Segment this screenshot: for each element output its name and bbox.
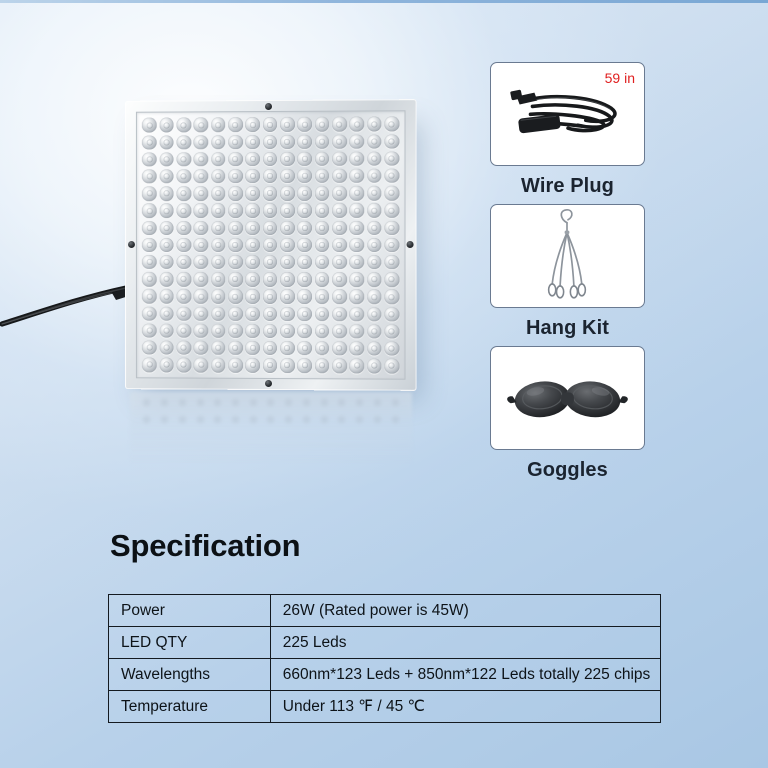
- led-diode: [227, 305, 244, 322]
- led-diode: [383, 288, 400, 305]
- led-diode: [261, 185, 278, 202]
- led-diode: [192, 202, 209, 219]
- led-reflection-dot: [212, 414, 223, 425]
- led-diode: [313, 340, 330, 357]
- led-reflection-dot: [195, 397, 206, 408]
- led-diode: [158, 168, 175, 185]
- led-diode: [244, 236, 261, 253]
- mounting-screw-right: [407, 241, 414, 248]
- led-diode: [175, 168, 192, 185]
- led-diode: [175, 288, 192, 305]
- led-diode: [313, 236, 330, 253]
- led-diode: [192, 322, 209, 339]
- led-reflection-dot: [230, 414, 241, 425]
- led-diode: [210, 254, 227, 271]
- led-reflection-dot: [177, 414, 188, 425]
- led-reflection-dot: [283, 397, 294, 408]
- led-diode: [313, 133, 330, 150]
- led-diode: [261, 271, 278, 288]
- led-diode: [296, 150, 313, 167]
- led-diode: [366, 357, 383, 374]
- led-diode: [279, 271, 296, 288]
- led-diode: [175, 322, 192, 339]
- accessory-image-box: [490, 346, 645, 450]
- led-diode: [158, 305, 175, 322]
- led-diode: [158, 288, 175, 305]
- led-diode: [244, 202, 261, 219]
- led-diode: [210, 305, 227, 322]
- led-diode: [175, 116, 192, 133]
- led-diode: [331, 219, 348, 236]
- led-reflection-dot: [372, 397, 383, 408]
- led-reflection-dot: [390, 414, 401, 425]
- led-diode: [175, 202, 192, 219]
- led-reflection-dot: [283, 414, 294, 425]
- led-diode: [279, 150, 296, 167]
- led-diode: [383, 305, 400, 322]
- led-diode: [244, 168, 261, 185]
- led-diode: [141, 322, 158, 339]
- panel-faceplate: [136, 110, 406, 379]
- led-diode: [141, 151, 158, 168]
- led-diode: [348, 202, 365, 219]
- led-diode: [210, 151, 227, 168]
- led-diode: [348, 150, 365, 167]
- led-diode: [227, 202, 244, 219]
- led-diode: [227, 322, 244, 339]
- led-diode: [313, 219, 330, 236]
- led-diode: [261, 340, 278, 357]
- led-diode: [366, 185, 383, 202]
- led-diode: [261, 219, 278, 236]
- led-reflection-dot: [372, 414, 383, 425]
- led-diode: [261, 236, 278, 253]
- led-diode: [366, 150, 383, 167]
- led-diode: [279, 357, 296, 374]
- led-diode: [366, 219, 383, 236]
- led-diode: [313, 323, 330, 340]
- led-diode: [227, 254, 244, 271]
- led-diode: [331, 271, 348, 288]
- mounting-screw-top: [265, 103, 272, 110]
- led-panel: [124, 100, 416, 390]
- led-diode: [261, 254, 278, 271]
- led-diode: [227, 116, 244, 133]
- accessory-goggles[interactable]: Goggles: [490, 346, 645, 482]
- table-row: TemperatureUnder 113 ℉ / 45 ℃: [109, 691, 661, 723]
- table-row: Wavelengths660nm*123 Leds + 850nm*122 Le…: [109, 659, 661, 691]
- led-diode: [175, 271, 192, 288]
- led-diode: [261, 305, 278, 322]
- led-diode: [366, 305, 383, 322]
- spec-key: Wavelengths: [109, 659, 271, 691]
- led-diode: [244, 305, 261, 322]
- led-diode: [158, 151, 175, 168]
- accessory-label: Goggles: [490, 459, 645, 482]
- panel-reflection-leds: [138, 394, 404, 428]
- led-diode: [175, 236, 192, 253]
- led-reflection-dot: [141, 414, 152, 425]
- led-diode: [244, 219, 261, 236]
- led-diode: [366, 340, 383, 357]
- led-diode: [158, 356, 175, 373]
- led-reflection-dot: [301, 397, 312, 408]
- led-diode: [279, 322, 296, 339]
- led-diode: [210, 322, 227, 339]
- led-diode: [210, 236, 227, 253]
- led-diode: [158, 271, 175, 288]
- led-diode: [313, 357, 330, 374]
- led-diode: [192, 356, 209, 373]
- led-reflection-dot: [212, 397, 223, 408]
- led-diode: [331, 202, 348, 219]
- led-diode: [383, 254, 400, 271]
- led-diode: [192, 151, 209, 168]
- led-diode: [261, 202, 278, 219]
- led-diode: [348, 305, 365, 322]
- led-diode: [366, 271, 383, 288]
- led-diode: [210, 133, 227, 150]
- led-diode: [296, 185, 313, 202]
- led-diode: [313, 167, 330, 184]
- led-reflection-dot: [248, 397, 259, 408]
- table-row: Power26W (Rated power is 45W): [109, 595, 661, 627]
- led-diode: [227, 133, 244, 150]
- led-diode: [158, 134, 175, 151]
- led-diode: [383, 115, 400, 132]
- led-diode: [348, 185, 365, 202]
- led-diode: [141, 168, 158, 185]
- specification-table-body: Power26W (Rated power is 45W)LED QTY225 …: [109, 595, 661, 723]
- led-diode: [227, 219, 244, 236]
- led-diode: [348, 323, 365, 340]
- goggles-icon: [491, 347, 644, 450]
- led-diode: [366, 288, 383, 305]
- spec-key: Temperature: [109, 691, 271, 723]
- led-diode: [175, 219, 192, 236]
- led-diode: [244, 271, 261, 288]
- led-diode: [261, 357, 278, 374]
- led-diode: [141, 339, 158, 356]
- led-diode: [296, 202, 313, 219]
- led-diode: [296, 288, 313, 305]
- led-reflection-dot: [336, 414, 347, 425]
- led-diode: [141, 271, 158, 288]
- led-diode: [158, 202, 175, 219]
- led-diode: [175, 134, 192, 151]
- led-diode: [261, 288, 278, 305]
- accessory-label: Wire Plug: [490, 175, 645, 198]
- led-reflection-dot: [265, 397, 276, 408]
- led-diode: [331, 357, 348, 374]
- led-diode: [192, 133, 209, 150]
- accessory-hang-kit[interactable]: Hang Kit: [490, 204, 645, 340]
- led-diode: [158, 322, 175, 339]
- panel-frame: [125, 99, 417, 391]
- led-diode: [313, 202, 330, 219]
- led-diode: [313, 305, 330, 322]
- led-diode: [141, 356, 158, 373]
- led-diode: [244, 133, 261, 150]
- led-diode: [175, 305, 192, 322]
- led-diode: [331, 236, 348, 253]
- led-diode: [158, 116, 175, 133]
- led-diode: [348, 254, 365, 271]
- led-diode: [192, 219, 209, 236]
- led-diode: [210, 271, 227, 288]
- led-diode: [348, 288, 365, 305]
- led-diode: [141, 288, 158, 305]
- led-grid: [140, 114, 402, 375]
- led-reflection-dot: [141, 397, 152, 408]
- led-diode: [383, 323, 400, 340]
- led-diode: [141, 134, 158, 151]
- led-diode: [383, 236, 400, 253]
- led-diode: [383, 271, 400, 288]
- led-diode: [158, 185, 175, 202]
- led-diode: [331, 185, 348, 202]
- led-diode: [296, 167, 313, 184]
- accessory-image-box: 59 in: [490, 62, 645, 166]
- led-diode: [227, 168, 244, 185]
- led-diode: [383, 340, 400, 357]
- led-diode: [348, 219, 365, 236]
- led-diode: [192, 168, 209, 185]
- led-diode: [279, 116, 296, 133]
- led-diode: [296, 271, 313, 288]
- led-diode: [227, 150, 244, 167]
- led-diode: [192, 116, 209, 133]
- accessory-image-box: [490, 204, 645, 308]
- led-diode: [244, 357, 261, 374]
- led-diode: [279, 185, 296, 202]
- led-diode: [279, 133, 296, 150]
- led-diode: [244, 339, 261, 356]
- led-diode: [331, 133, 348, 150]
- led-diode: [296, 219, 313, 236]
- led-diode: [210, 116, 227, 133]
- led-diode: [210, 202, 227, 219]
- led-diode: [331, 340, 348, 357]
- spec-value: Under 113 ℉ / 45 ℃: [270, 691, 660, 723]
- led-diode: [141, 219, 158, 236]
- led-diode: [296, 357, 313, 374]
- accessory-wire-plug[interactable]: 59 in Wire Plug: [490, 62, 645, 198]
- led-diode: [261, 322, 278, 339]
- led-diode: [279, 236, 296, 253]
- led-diode: [313, 116, 330, 133]
- led-diode: [383, 133, 400, 150]
- led-diode: [141, 236, 158, 253]
- led-diode: [227, 185, 244, 202]
- led-reflection-dot: [248, 414, 259, 425]
- led-diode: [348, 236, 365, 253]
- led-diode: [261, 116, 278, 133]
- accessory-label: Hang Kit: [490, 317, 645, 340]
- top-accent-strip: [0, 0, 768, 3]
- led-diode: [279, 288, 296, 305]
- spec-value: 660nm*123 Leds + 850nm*122 Leds totally …: [270, 659, 660, 691]
- spec-key: LED QTY: [109, 627, 271, 659]
- led-diode: [313, 288, 330, 305]
- led-diode: [261, 150, 278, 167]
- led-diode: [192, 339, 209, 356]
- led-diode: [210, 357, 227, 374]
- led-diode: [192, 288, 209, 305]
- led-diode: [244, 322, 261, 339]
- led-diode: [331, 305, 348, 322]
- led-diode: [210, 288, 227, 305]
- led-diode: [383, 184, 400, 201]
- led-diode: [383, 357, 400, 374]
- led-diode: [175, 356, 192, 373]
- led-diode: [296, 116, 313, 133]
- led-diode: [175, 151, 192, 168]
- led-reflection-dot: [159, 397, 170, 408]
- led-reflection-dot: [195, 414, 206, 425]
- spec-value: 225 Leds: [270, 627, 660, 659]
- led-diode: [348, 133, 365, 150]
- led-diode: [279, 202, 296, 219]
- led-diode: [366, 202, 383, 219]
- led-diode: [227, 271, 244, 288]
- led-diode: [279, 254, 296, 271]
- led-diode: [348, 116, 365, 133]
- led-reflection-dot: [354, 414, 365, 425]
- led-reflection-dot: [301, 414, 312, 425]
- led-diode: [192, 185, 209, 202]
- led-diode: [210, 185, 227, 202]
- led-diode: [261, 168, 278, 185]
- led-diode: [175, 339, 192, 356]
- led-diode: [141, 254, 158, 271]
- led-diode: [279, 168, 296, 185]
- led-diode: [192, 305, 209, 322]
- led-diode: [141, 185, 158, 202]
- led-diode: [158, 219, 175, 236]
- led-diode: [296, 322, 313, 339]
- led-diode: [279, 340, 296, 357]
- led-diode: [366, 323, 383, 340]
- led-diode: [383, 150, 400, 167]
- led-reflection-dot: [336, 397, 347, 408]
- led-diode: [331, 254, 348, 271]
- led-diode: [331, 323, 348, 340]
- led-diode: [366, 236, 383, 253]
- led-diode: [175, 254, 192, 271]
- led-reflection-dot: [390, 397, 401, 408]
- led-diode: [331, 150, 348, 167]
- led-reflection-dot: [159, 414, 170, 425]
- led-diode: [296, 133, 313, 150]
- led-diode: [366, 133, 383, 150]
- led-diode: [383, 167, 400, 184]
- led-diode: [296, 236, 313, 253]
- led-diode: [296, 305, 313, 322]
- led-diode: [244, 254, 261, 271]
- led-diode: [348, 271, 365, 288]
- led-diode: [227, 339, 244, 356]
- led-diode: [141, 305, 158, 322]
- length-badge: 59 in: [605, 70, 635, 86]
- led-diode: [313, 150, 330, 167]
- led-diode: [227, 288, 244, 305]
- led-diode: [296, 340, 313, 357]
- led-diode: [158, 339, 175, 356]
- specification-table: Power26W (Rated power is 45W)LED QTY225 …: [108, 594, 661, 723]
- led-diode: [348, 340, 365, 357]
- led-diode: [192, 254, 209, 271]
- led-diode: [158, 254, 175, 271]
- led-reflection-dot: [319, 414, 330, 425]
- led-diode: [313, 271, 330, 288]
- led-diode: [192, 236, 209, 253]
- led-diode: [210, 219, 227, 236]
- led-diode: [244, 288, 261, 305]
- mounting-screw-bottom: [265, 380, 272, 387]
- led-diode: [192, 271, 209, 288]
- led-diode: [244, 185, 261, 202]
- led-diode: [331, 288, 348, 305]
- led-diode: [261, 133, 278, 150]
- led-reflection-dot: [265, 414, 276, 425]
- led-diode: [366, 254, 383, 271]
- led-diode: [348, 357, 365, 374]
- led-reflection-dot: [354, 397, 365, 408]
- led-diode: [296, 254, 313, 271]
- led-diode: [141, 117, 158, 134]
- led-diode: [366, 167, 383, 184]
- led-reflection-dot: [319, 397, 330, 408]
- led-diode: [313, 185, 330, 202]
- led-reflection-dot: [177, 397, 188, 408]
- led-diode: [383, 219, 400, 236]
- led-diode: [227, 236, 244, 253]
- led-diode: [383, 202, 400, 219]
- led-diode: [141, 202, 158, 219]
- spec-value: 26W (Rated power is 45W): [270, 595, 660, 627]
- led-diode: [366, 115, 383, 132]
- led-diode: [279, 305, 296, 322]
- led-diode: [313, 254, 330, 271]
- led-diode: [331, 116, 348, 133]
- product-infographic: 59 in Wire Plug: [0, 0, 768, 768]
- table-row: LED QTY225 Leds: [109, 627, 661, 659]
- led-diode: [331, 167, 348, 184]
- led-diode: [158, 236, 175, 253]
- led-diode: [210, 339, 227, 356]
- led-reflection-dot: [230, 397, 241, 408]
- led-diode: [210, 168, 227, 185]
- led-diode: [244, 150, 261, 167]
- led-diode: [227, 357, 244, 374]
- mounting-screw-left: [128, 241, 135, 248]
- led-diode: [348, 167, 365, 184]
- spec-key: Power: [109, 595, 271, 627]
- led-diode: [279, 219, 296, 236]
- specification-heading: Specification: [110, 528, 300, 564]
- led-diode: [175, 185, 192, 202]
- led-diode: [244, 116, 261, 133]
- hang-kit-icon: [491, 205, 644, 308]
